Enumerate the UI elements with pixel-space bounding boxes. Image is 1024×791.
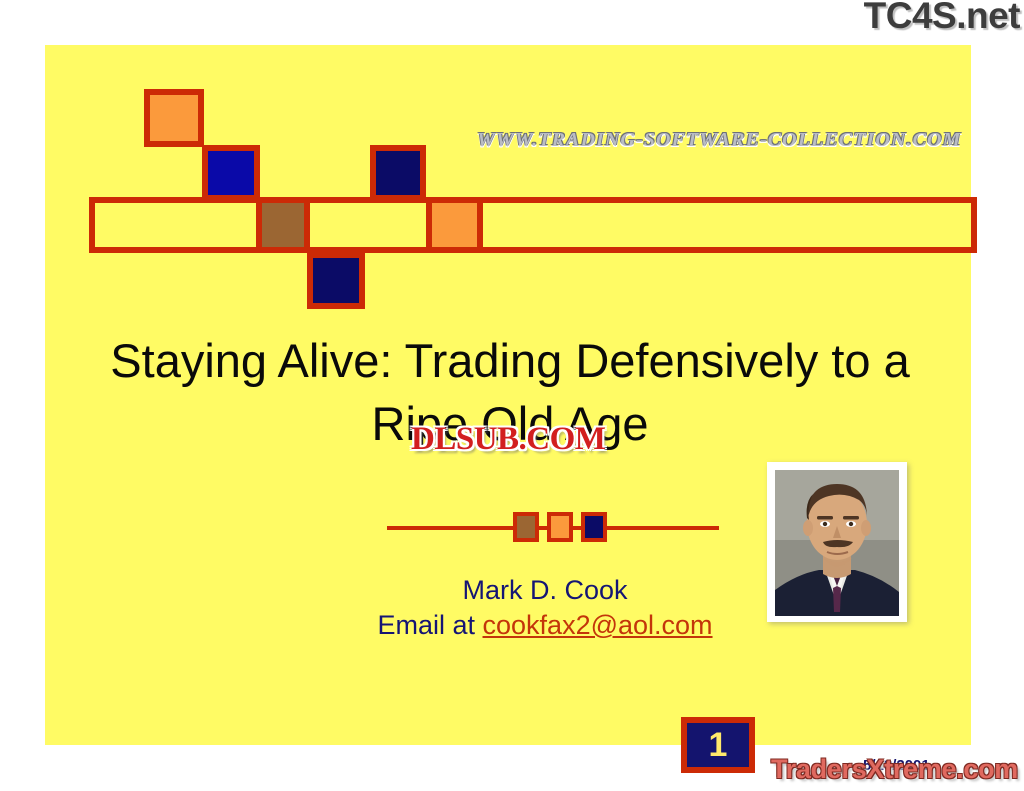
author-contact-block: Mark D. Cook Email at cookfax2@aol.com [225,573,865,643]
decorative-square-navy-top [370,145,426,201]
author-name: Mark D. Cook [225,573,865,608]
watermark-trading-software-collection: WWW.TRADING-SOFTWARE-COLLECTION.COM [477,129,962,152]
watermark-tradersxtreme-brand: TradersXtreme.com [771,754,1018,785]
divider-square-orange [547,512,573,542]
author-email-line: Email at cookfax2@aol.com [225,608,865,643]
decorative-square-brown [256,197,310,253]
email-link[interactable]: cookfax2@aol.com [483,610,713,640]
decorative-square-navy-bottom [307,252,365,309]
decorative-square-orange-top [144,89,204,147]
slide-number-badge: 1 [681,717,755,773]
watermark-tc4s-brand: TC4S.net [864,0,1020,37]
email-label: Email at [377,610,482,640]
decorative-square-blue [202,145,260,201]
decorative-horizontal-bar [89,197,977,253]
presentation-slide: WWW.TRADING-SOFTWARE-COLLECTION.COM Stay… [45,45,971,745]
divider-square-navy [581,512,607,542]
decorative-divider-line [387,526,719,530]
divider-square-brown [513,512,539,542]
watermark-dlsub: DLSUB.COM [411,421,605,458]
decorative-square-orange-bar [426,197,483,253]
